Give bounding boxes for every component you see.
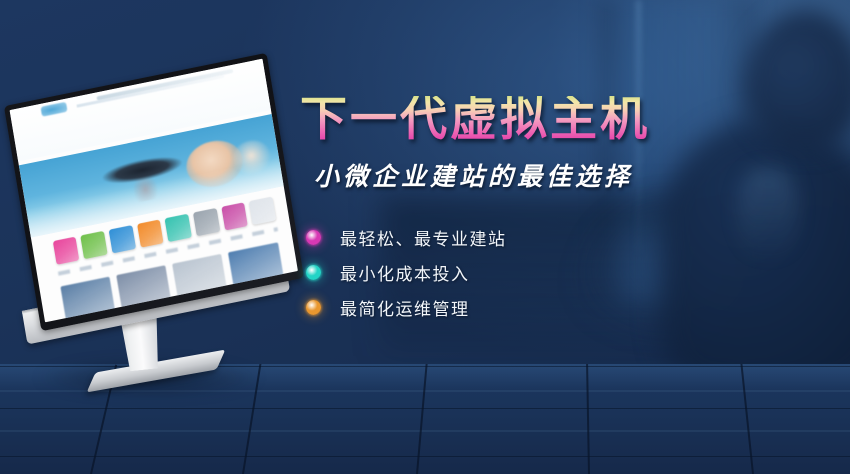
- floor-horizontal-line: [0, 456, 850, 457]
- bullet-dot-orange: [306, 300, 321, 315]
- headline: 下一代虚拟主机: [300, 96, 760, 143]
- website-app-icon: [52, 237, 79, 265]
- list-item: 最小化成本投入: [306, 255, 760, 290]
- list-item: 最轻松、最专业建站: [306, 220, 760, 255]
- bullet-dot-teal: [306, 265, 321, 280]
- list-item-label: 最简化运维管理: [340, 295, 470, 320]
- website-app-icon: [165, 214, 192, 242]
- website-app-icon: [249, 197, 276, 225]
- subheadline: 小微企业建站的最佳选择: [314, 157, 760, 193]
- floor-horizontal-line: [0, 430, 850, 432]
- list-item-label: 最小化成本投入: [340, 260, 470, 285]
- hosting-promo-banner: 下一代虚拟主机 小微企业建站的最佳选择 最轻松、最专业建站 最小化成本投入 最简…: [0, 0, 850, 474]
- website-logo: [40, 101, 67, 116]
- list-item: 最简化运维管理: [306, 290, 760, 325]
- website-app-icon: [193, 208, 220, 236]
- imac-desktop-illustration: [8, 72, 300, 402]
- list-item-label: 最轻松、最专业建站: [340, 225, 507, 250]
- website-app-icon: [109, 225, 136, 253]
- floor-horizontal-line: [0, 408, 850, 409]
- feature-list: 最轻松、最专业建站 最小化成本投入 最简化运维管理: [306, 220, 760, 325]
- website-app-icon: [81, 231, 108, 259]
- promo-text-block: 下一代虚拟主机 小微企业建站的最佳选择 最轻松、最专业建站 最小化成本投入 最简…: [300, 96, 760, 325]
- website-app-icon: [137, 220, 164, 248]
- bullet-dot-magenta: [306, 230, 321, 245]
- website-app-icon: [221, 203, 248, 231]
